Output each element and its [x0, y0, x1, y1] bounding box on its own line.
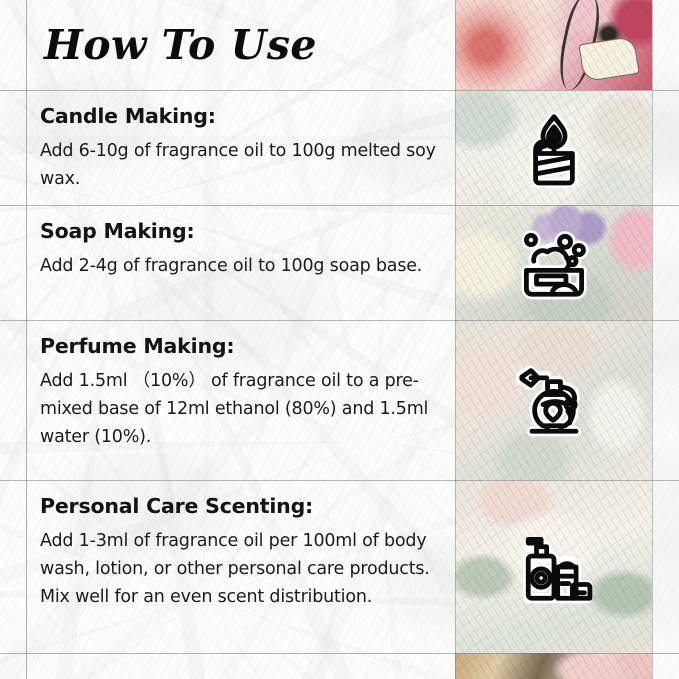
band-perfume [455, 320, 652, 480]
lotion-bottles-icon [508, 521, 600, 613]
art-column-right-edge [652, 0, 653, 679]
candle-icon [508, 102, 600, 194]
art-column-left-edge [455, 0, 456, 679]
band-personal-care [455, 480, 652, 653]
band-roses [455, 0, 652, 90]
section-body: Add 1-3ml of fragrance oil per 100ml of … [40, 527, 450, 611]
section-personal-care-scenting: Personal Care Scenting: Add 1-3ml of fra… [40, 494, 450, 611]
perfume-bottle-icon [508, 354, 600, 446]
right-margin [652, 0, 679, 679]
section-body: Add 6-10g of fragrance oil to 100g melte… [40, 137, 450, 193]
how-to-use-card: How To Use Candle Making: Add 6-10g of f… [0, 0, 679, 679]
section-heading: Soap Making: [40, 219, 450, 243]
left-vertical-rule [26, 0, 27, 679]
section-body: Add 2-4g of fragrance oil to 100g soap b… [40, 252, 450, 280]
soap-bar-icon [508, 217, 600, 309]
section-heading: Perfume Making: [40, 334, 450, 358]
section-heading: Personal Care Scenting: [40, 494, 450, 518]
illustration-column [455, 0, 652, 679]
text-column: How To Use Candle Making: Add 6-10g of f… [0, 0, 455, 679]
page-title: How To Use [44, 8, 444, 82]
section-body: Add 1.5ml （10%） of fragrance oil to a pr… [40, 367, 450, 451]
section-candle-making: Candle Making: Add 6-10g of fragrance oi… [40, 104, 450, 193]
band-candle [455, 90, 652, 205]
section-soap-making: Soap Making: Add 2-4g of fragrance oil t… [40, 219, 450, 280]
band-bottom [455, 653, 652, 679]
section-heading: Candle Making: [40, 104, 450, 128]
band-soap [455, 205, 652, 320]
section-perfume-making: Perfume Making: Add 1.5ml （10%） of fragr… [40, 334, 450, 451]
